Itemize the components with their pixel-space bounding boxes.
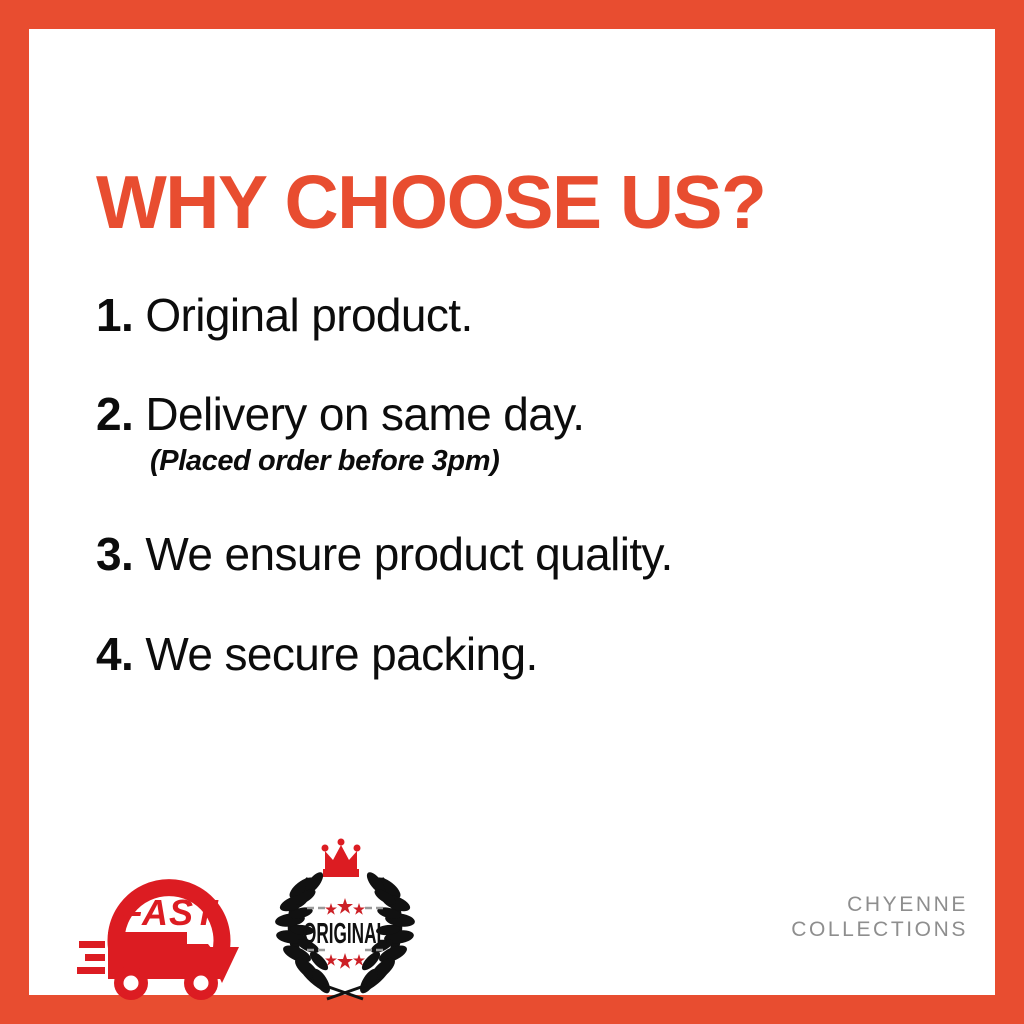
brand-line-2: COLLECTIONS bbox=[791, 917, 968, 943]
trust-badges-row: FAST bbox=[77, 835, 421, 1005]
benefits-list: 1. Original product. 2. Delivery on same… bbox=[96, 291, 956, 679]
badge-stars-top bbox=[307, 898, 383, 915]
page-title: WHY CHOOSE US? bbox=[96, 165, 765, 240]
list-item-number: 2. bbox=[96, 388, 133, 440]
brand-signature: CHYENNE COLLECTIONS bbox=[791, 892, 968, 943]
fast-label: FAST bbox=[121, 892, 219, 933]
list-item-text: We secure packing. bbox=[145, 628, 537, 680]
poster-inner-panel: WHY CHOOSE US? 1. Original product. 2. D… bbox=[29, 29, 995, 995]
fast-delivery-truck-icon: FAST bbox=[77, 837, 253, 1003]
list-item-number: 4. bbox=[96, 628, 133, 680]
promo-poster: WHY CHOOSE US? 1. Original product. 2. D… bbox=[0, 0, 1024, 1024]
original-label: ORIGINAL bbox=[303, 917, 387, 949]
crown-icon bbox=[322, 839, 361, 878]
list-item-number: 1. bbox=[96, 289, 133, 341]
list-item-text: Delivery on same day. bbox=[145, 388, 584, 440]
list-item: 3. We ensure product quality. bbox=[96, 530, 956, 579]
brand-line-1: CHYENNE bbox=[791, 892, 968, 918]
list-item-number: 3. bbox=[96, 528, 133, 580]
list-item-subnote: (Placed order before 3pm) bbox=[150, 446, 956, 478]
list-item-text: We ensure product quality. bbox=[145, 528, 672, 580]
list-item: 1. Original product. bbox=[96, 291, 956, 340]
list-item-text: Original product. bbox=[145, 289, 472, 341]
laurel-wreath-original-badge-icon: ORIGINAL bbox=[269, 835, 421, 1005]
list-item: 2. Delivery on same day. (Placed order b… bbox=[96, 390, 956, 478]
list-item: 4. We secure packing. bbox=[96, 630, 956, 679]
